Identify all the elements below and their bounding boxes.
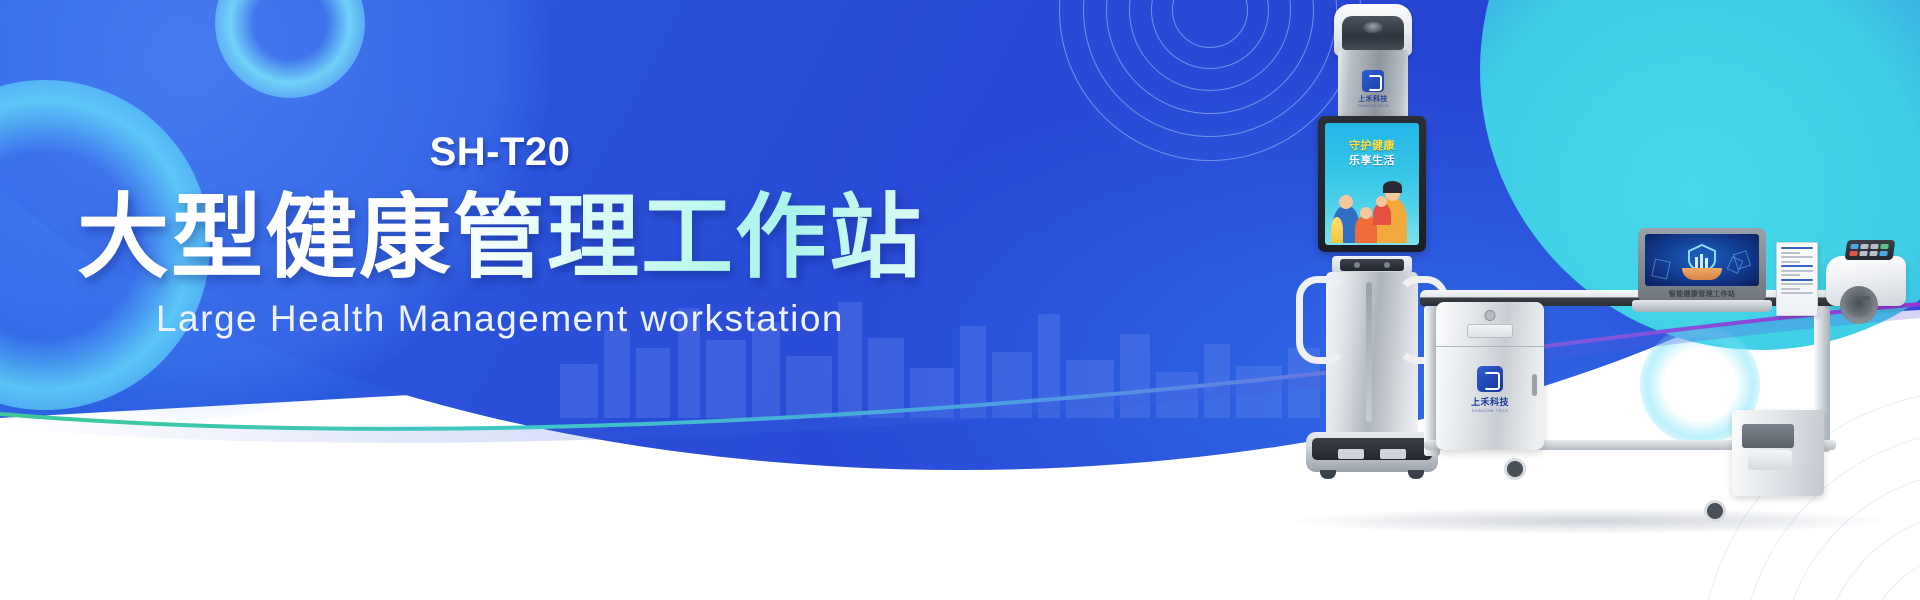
figure-boy-head [1360,207,1372,219]
figure-toddler-head [1376,196,1387,207]
kiosk-body-stripe [1366,282,1372,422]
bpm-arm-cuff [1840,286,1878,324]
cabinet-brand-logo: 上禾科技 SHANGHE TECH [1455,366,1525,413]
bpm-key[interactable] [1879,251,1888,256]
cabinet-lock-icon[interactable] [1485,310,1496,321]
report-line [1781,279,1813,281]
report-line [1781,288,1800,290]
kiosk-ad-line-2: 乐享生活 [1325,152,1419,168]
laptop-caption: 智能健康管理工作站 [1638,289,1766,299]
kiosk-display-frame: 守护健康 乐享生活 [1318,116,1426,252]
brand-subname: SHANGHE TECH [1343,104,1403,108]
page-title: 大型健康管理工作站 [0,190,1000,287]
kiosk-family-illustration [1331,175,1413,243]
banner-copy: SH-T20 大型健康管理工作站 Large Health Management… [0,132,1000,339]
product-image: 上禾科技 SHANGHE TECH 守护健康 乐享生活 [1270,0,1920,600]
wheat-icon [1331,217,1343,243]
kiosk-handrail-left [1296,276,1348,364]
report-printer [1732,410,1824,496]
brand-mark-icon [1477,366,1503,392]
report-line [1781,256,1813,258]
brand-name: 上禾科技 [1455,395,1525,408]
kiosk-scale-platform [1312,438,1432,460]
kiosk-sensor-lens-icon [1363,22,1383,33]
kiosk-ultrasonic-head [1334,4,1412,56]
cabinet-handle[interactable] [1532,374,1537,396]
kiosk-sensor-housing [1342,16,1404,50]
page-subtitle: Large Health Management workstation [0,299,1000,340]
bpm-printer-slot [1856,296,1870,300]
bpm-key[interactable] [1850,244,1859,249]
report-line [1781,274,1800,276]
report-line [1781,283,1813,285]
blood-pressure-monitor [1820,234,1916,314]
figure-mother-hair [1383,181,1402,193]
report-line [1781,270,1813,272]
report-line [1781,265,1813,267]
scale-footpad-right [1380,449,1406,459]
bpm-housing [1826,256,1906,306]
cabinet-divider [1436,346,1544,347]
kiosk-ad-line-1: 守护健康 [1325,137,1419,153]
kiosk-panel-sensors-icon [1340,259,1404,271]
laptop-screen[interactable] [1645,234,1759,286]
laptop-base [1632,300,1772,312]
caster-wheel-icon [1504,458,1526,480]
bpm-key[interactable] [1869,251,1878,256]
laptop-lid: 智能健康管理工作站 [1638,228,1766,302]
bpm-key[interactable] [1859,251,1868,256]
height-weight-kiosk: 上禾科技 SHANGHE TECH 守护健康 乐享生活 [1312,0,1432,600]
product-model-code: SH-T20 [0,132,1000,172]
scale-footpad-left [1338,449,1364,459]
bpm-key[interactable] [1870,244,1879,249]
report-line [1781,247,1813,249]
printer-output-slot [1748,450,1792,470]
workstation-laptop: 智能健康管理工作站 [1638,228,1766,314]
caster-wheel-icon [1704,500,1726,522]
workstation-desk: 上禾科技 SHANGHE TECH [1420,290,1840,540]
bpm-key[interactable] [1880,244,1889,249]
hex-decor-icon [1651,259,1670,280]
bpm-key[interactable] [1849,251,1858,256]
report-line [1781,292,1813,294]
report-line [1781,252,1800,254]
kiosk-weighing-base [1306,432,1438,472]
kiosk-foot-left [1320,470,1336,479]
printed-health-report [1776,242,1818,316]
brand-subname: SHANGHE TECH [1455,408,1525,413]
cabinet-card-slot[interactable] [1467,324,1513,338]
storage-cabinet: 上禾科技 SHANGHE TECH [1436,302,1544,450]
printer-paper-tray [1742,424,1794,448]
bpm-key[interactable] [1860,244,1869,249]
figure-grandfather-head [1339,195,1353,209]
kiosk-display-screen[interactable]: 守护健康 乐享生活 [1325,123,1419,245]
product-hero-banner: SH-T20 大型健康管理工作站 Large Health Management… [0,0,1920,600]
supporting-hands-icon [1682,268,1722,280]
brand-name: 上禾科技 [1343,94,1403,104]
report-line [1781,261,1800,263]
kiosk-brand-logo: 上禾科技 SHANGHE TECH [1343,70,1403,108]
brand-mark-icon [1362,70,1384,92]
bpm-keypad[interactable] [1845,240,1896,260]
